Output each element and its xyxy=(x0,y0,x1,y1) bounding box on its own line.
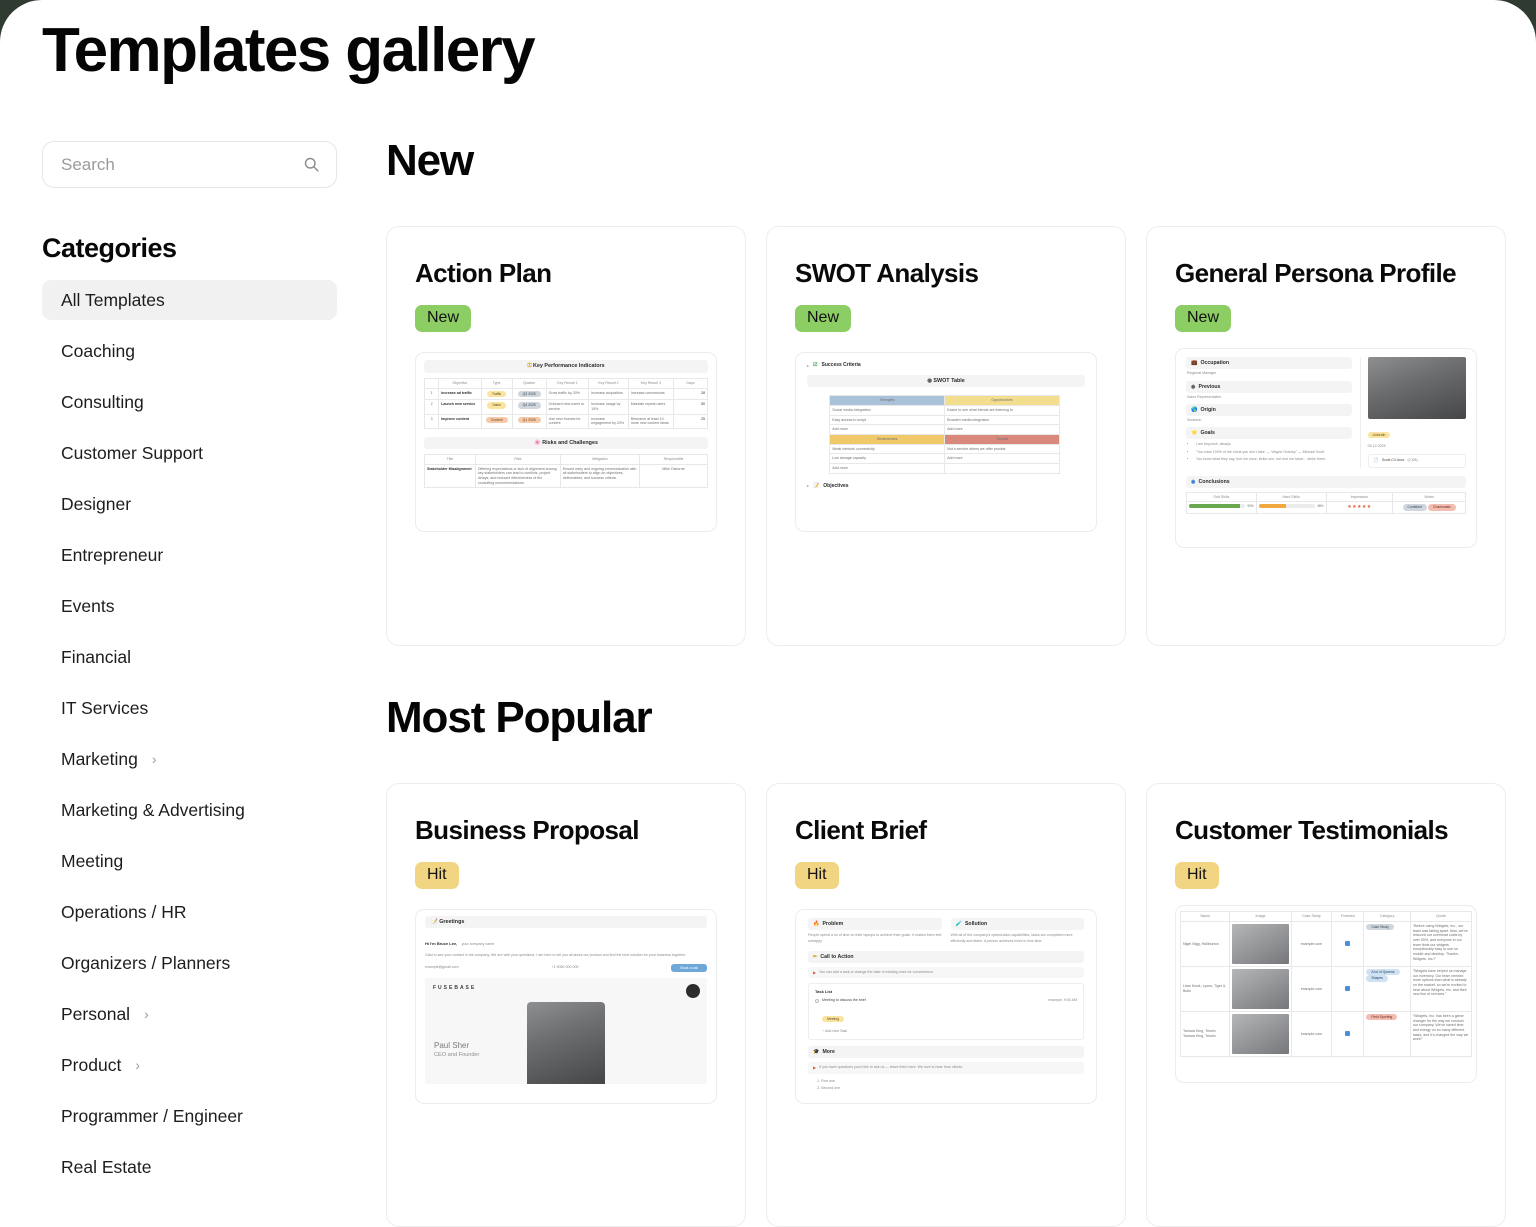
note-tag: Charismatic xyxy=(1428,504,1456,510)
brief-solution-text: With all of the company's optimization c… xyxy=(951,933,1085,944)
chevron-right-icon[interactable]: › xyxy=(135,1058,140,1072)
persona-photo xyxy=(1368,357,1466,419)
sidebar-item-financial[interactable]: Financial xyxy=(42,637,337,677)
status-badge: Hit xyxy=(795,862,839,889)
proposal-email: example@gmail.com xyxy=(425,965,459,970)
status-badge: New xyxy=(1175,305,1231,332)
sidebar-item-label: Personal xyxy=(61,1004,130,1025)
sidebar-item-programmer-engineer[interactable]: Programmer / Engineer xyxy=(42,1096,337,1136)
brief-cta-text: ▶ You can add a task or change the date … xyxy=(808,967,1084,978)
template-preview-persona: 💼Occupation Regional Manager ◉Previous S… xyxy=(1175,348,1477,548)
proposal-person-role: CEO and Founder xyxy=(434,1052,479,1058)
template-title: SWOT Analysis xyxy=(795,257,1097,289)
note-tag: Confident xyxy=(1403,504,1428,510)
proposal-cta-button[interactable]: Book a call xyxy=(671,964,707,972)
sidebar-item-label: Entrepreneur xyxy=(61,545,163,566)
sidebar-item-meeting[interactable]: Meeting xyxy=(42,841,337,881)
template-preview-testimonials: Name Image Case Study Finished Category … xyxy=(1175,905,1477,1083)
avatar xyxy=(1232,1014,1288,1054)
testimonial-case-study: example.com xyxy=(1291,921,1332,966)
sidebar-item-label: Programmer / Engineer xyxy=(61,1106,243,1127)
template-title: Business Proposal xyxy=(415,814,717,846)
persona-previous-value: Sales Representative xyxy=(1187,395,1352,400)
status-badge: Hit xyxy=(415,862,459,889)
brief-problem-text: People spend a lot of time on their lapt… xyxy=(808,933,942,944)
sidebar: Categories All Templates Coaching Consul… xyxy=(42,141,337,1198)
hard-skills-value: 48% xyxy=(1317,504,1323,508)
template-preview-swot: ▸ ☑ Success Criteria ◉ SWOT Table Streng… xyxy=(795,352,1097,532)
sidebar-item-events[interactable]: Events xyxy=(42,586,337,626)
sidebar-item-label: Marketing & Advertising xyxy=(61,800,245,821)
play-icon[interactable] xyxy=(686,984,700,998)
template-card-action-plan[interactable]: Action Plan New ⚿ Key Performance Indica… xyxy=(386,226,746,646)
sidebar-item-label: Designer xyxy=(61,494,131,515)
brief-more-label: 🎓More xyxy=(808,1046,1084,1058)
sidebar-item-label: Organizers / Planners xyxy=(61,953,230,974)
status-badge: New xyxy=(415,305,471,332)
preview-greetings-heading: 📝 Greetings xyxy=(425,916,707,928)
persona-conclusions-label: ◉Conclusions xyxy=(1186,476,1466,488)
persona-origin-label: 🌎Origin xyxy=(1186,404,1352,416)
table-row: Stakeholder Misalignment Differing expec… xyxy=(425,464,708,488)
search-input[interactable] xyxy=(43,142,336,187)
list-item: Second one xyxy=(821,1086,1084,1091)
sidebar-item-label: Real Estate xyxy=(61,1157,151,1178)
brief-task-list: Task List Meeting to discuss the brief e… xyxy=(808,983,1084,1040)
template-card-general-persona-profile[interactable]: General Persona Profile New 💼Occupation … xyxy=(1146,226,1506,646)
template-title: General Persona Profile xyxy=(1175,257,1477,289)
status-badge: New xyxy=(795,305,851,332)
brief-add-task[interactable]: + Add new Task xyxy=(822,1029,1077,1034)
sidebar-item-real-estate[interactable]: Real Estate xyxy=(42,1147,337,1187)
testimonial-name: Nigel Nigg, Halliburton xyxy=(1181,921,1230,966)
template-card-swot-analysis[interactable]: SWOT Analysis New ▸ ☑ Success Criteria ◉… xyxy=(766,226,1126,646)
sidebar-item-label: Events xyxy=(61,596,115,617)
search-box[interactable] xyxy=(42,141,337,188)
preview-risks-heading: 🌸 Risks and Challenges xyxy=(424,437,708,449)
category-list: All Templates Coaching Consulting Custom… xyxy=(42,280,337,1187)
sidebar-item-operations-hr[interactable]: Operations / HR xyxy=(42,892,337,932)
persona-occupation-value: Regional Manager xyxy=(1187,371,1352,376)
proposal-salutation-hint: your company name xyxy=(462,942,495,946)
table-row: 3 Improve content Content Q1 2026 Use ne… xyxy=(425,414,708,428)
template-title: Action Plan xyxy=(415,257,717,289)
brief-solution-label: 🧪Sollution xyxy=(951,918,1085,930)
avatar xyxy=(1232,924,1288,964)
sidebar-item-coaching[interactable]: Coaching xyxy=(42,331,337,371)
list-item: I am beyoncé, always. xyxy=(1196,442,1352,447)
persona-occupation-label: 💼Occupation xyxy=(1186,357,1352,369)
table-row: 2 Launch new service Sales Q4 2025 Onboa… xyxy=(425,400,708,414)
sidebar-item-designer[interactable]: Designer xyxy=(42,484,337,524)
sidebar-item-consulting[interactable]: Consulting xyxy=(42,382,337,422)
sidebar-item-label: All Templates xyxy=(61,290,165,311)
preview-swot-table: Strengths Opportunities Social media int… xyxy=(829,395,1060,473)
sidebar-item-label: Product xyxy=(61,1055,121,1076)
brief-task-tag: Meeting xyxy=(822,1016,844,1022)
swot-quadrant-label: Strengths xyxy=(830,396,945,406)
template-preview-action-plan: ⚿ Key Performance Indicators Objective T… xyxy=(415,352,717,532)
testimonial-quote: "Widgets have helped us manage our inven… xyxy=(1410,966,1471,1011)
testimonial-case-study: example.com xyxy=(1291,966,1332,1011)
brief-task-item: Meeting to discuss the brief xyxy=(822,998,1045,1003)
template-title: Customer Testimonials xyxy=(1175,814,1477,846)
swot-quadrant-label: Threats xyxy=(945,434,1060,444)
brief-problem-label: 🔥Problem xyxy=(808,918,942,930)
sidebar-item-marketing-advertising[interactable]: Marketing & Advertising xyxy=(42,790,337,830)
persona-date: 05.12.2025 xyxy=(1368,444,1466,449)
checkbox-checked-icon[interactable] xyxy=(1345,941,1350,946)
proposal-hero: FUSEBASE Paul Sher CEO and Founder xyxy=(425,978,707,1084)
preview-objectives: ▸ 📝 Objectives xyxy=(807,483,1085,489)
rating-stars: ★★★★★ xyxy=(1347,504,1371,510)
table-row: 1 Increase ad traffic Traffic Q3 2025 Gr… xyxy=(425,388,708,399)
chevron-right-icon[interactable]: › xyxy=(144,1007,149,1021)
main-content: New Action Plan New ⚿ Key Performance In… xyxy=(386,0,1536,1227)
sidebar-item-label: Meeting xyxy=(61,851,123,872)
categories-heading: Categories xyxy=(42,233,337,264)
proposal-phone: +1 9050 000 000 xyxy=(551,965,578,970)
sidebar-item-label: Marketing xyxy=(61,749,138,770)
table-row: 90% 48% ★★★★★ xyxy=(1187,502,1466,514)
task-checkbox[interactable] xyxy=(815,999,819,1003)
testimonials-table: Name Image Case Study Finished Category … xyxy=(1180,911,1472,1057)
section-heading-most-popular: Most Popular xyxy=(386,693,651,743)
swot-quadrant-label: Opportunities xyxy=(945,396,1060,406)
swot-quadrant-label: Weaknesses xyxy=(830,434,945,444)
preview-risks-table: Title Risk Mitigation Responsible Stakeh… xyxy=(424,454,708,488)
template-row-most-popular: Business Proposal Hit 📝 Greetings Hi I'm… xyxy=(386,783,1506,1227)
proposal-person-photo xyxy=(527,1002,605,1084)
persona-goals-label: ⭐Goals xyxy=(1186,427,1352,439)
section-heading-new: New xyxy=(386,136,473,186)
brief-more-text: ▶ If you have questions you'd like to as… xyxy=(808,1062,1084,1073)
persona-linkedin-tag: LinkedIn xyxy=(1368,432,1391,438)
category-tag: Field Sporting xyxy=(1366,1014,1397,1020)
list-item: "You miss 100% of the shots you don't ta… xyxy=(1196,450,1352,455)
proposal-body: Glad to see your contact in the company.… xyxy=(425,953,707,958)
persona-previous-label: ◉Previous xyxy=(1186,381,1352,393)
chevron-right-icon[interactable]: › xyxy=(152,752,157,766)
sidebar-item-label: IT Services xyxy=(61,698,148,719)
persona-origin-value: Scranton xyxy=(1187,418,1352,423)
template-preview-proposal: 📝 Greetings Hi I'm Bruce Lee, your compa… xyxy=(415,909,717,1104)
sidebar-item-label: Coaching xyxy=(61,341,135,362)
preview-success-criteria: ▸ ☑ Success Criteria xyxy=(807,362,1085,368)
sidebar-item-all-templates[interactable]: All Templates xyxy=(42,280,337,320)
preview-kpi-heading: ⚿ Key Performance Indicators xyxy=(424,360,708,373)
sidebar-item-it-services[interactable]: IT Services xyxy=(42,688,337,728)
list-item: You know what they say, fool me once, st… xyxy=(1196,457,1352,462)
checkbox-checked-icon[interactable] xyxy=(1345,1031,1350,1036)
sidebar-item-entrepreneur[interactable]: Entrepreneur xyxy=(42,535,337,575)
sidebar-item-label: Financial xyxy=(61,647,131,668)
preview-swot-heading: ◉ SWOT Table xyxy=(807,375,1085,387)
testimonial-name: Liam Kwok, Lyons, Tiger & Bulls xyxy=(1181,966,1230,1011)
category-tag: Case Study xyxy=(1366,924,1394,930)
testimonial-case-study: example.com xyxy=(1291,1011,1332,1056)
brief-task-list-label: Task List xyxy=(815,989,1077,994)
template-card-client-brief[interactable]: Client Brief Hit 🔥Problem People spend a… xyxy=(766,783,1126,1227)
table-row: Nigel Nigg, Halliburton example.com Case… xyxy=(1181,921,1472,966)
template-row-new: Action Plan New ⚿ Key Performance Indica… xyxy=(386,226,1506,646)
app-window: Templates gallery Categories All Templat… xyxy=(0,0,1536,1227)
category-tag: Shapes xyxy=(1366,975,1388,981)
sidebar-item-personal[interactable]: Personal › xyxy=(42,994,337,1034)
sidebar-item-marketing[interactable]: Marketing › xyxy=(42,739,337,779)
checkbox-checked-icon[interactable] xyxy=(1345,986,1350,991)
list-item: First one xyxy=(821,1079,1084,1084)
avatar xyxy=(1232,969,1288,1009)
template-title: Client Brief xyxy=(795,814,1097,846)
soft-skills-value: 90% xyxy=(1247,504,1253,508)
preview-kpi-table: Objective Type Quarter Key Result 1 Key … xyxy=(424,378,708,429)
proposal-salutation: Hi I'm Bruce Lee, xyxy=(425,941,457,946)
table-row: Liam Kwok, Lyons, Tiger & Bulls example.… xyxy=(1181,966,1472,1011)
template-preview-client-brief: 🔥Problem People spend a lot of time on t… xyxy=(795,909,1097,1104)
brief-task-meta: example, 9:00 AM xyxy=(1048,998,1077,1003)
testimonial-quote: "Before using Widgets, Inc., our team wa… xyxy=(1410,921,1471,966)
template-card-customer-testimonials[interactable]: Customer Testimonials Hit Name Image Cas… xyxy=(1146,783,1506,1227)
sidebar-item-label: Customer Support xyxy=(61,443,203,464)
template-card-business-proposal[interactable]: Business Proposal Hit 📝 Greetings Hi I'm… xyxy=(386,783,746,1227)
persona-conclusions-table: Soft Skills Hard Skills Impression Notes… xyxy=(1186,492,1466,514)
sidebar-item-customer-support[interactable]: Customer Support xyxy=(42,433,337,473)
sidebar-item-product[interactable]: Product › xyxy=(42,1045,337,1085)
proposal-person-name: Paul Sher xyxy=(434,1041,479,1050)
brief-cta-label: ✏Call to Action xyxy=(808,951,1084,963)
sidebar-item-label: Consulting xyxy=(61,392,144,413)
sidebar-item-label: Operations / HR xyxy=(61,902,186,923)
sidebar-item-organizers-planners[interactable]: Organizers / Planners xyxy=(42,943,337,983)
persona-file-attachment[interactable]: 📄 Scott-CV.docx (2 KB) xyxy=(1368,454,1466,468)
brand-logo: FUSEBASE xyxy=(433,985,476,991)
testimonial-quote: "Widgets, Inc. has been a game changer f… xyxy=(1410,1011,1471,1056)
status-badge: Hit xyxy=(1175,862,1219,889)
testimonial-name: Tamara King, Trionix Tamara King, Trioni… xyxy=(1181,1011,1230,1056)
search-icon[interactable] xyxy=(303,156,320,178)
table-row: Tamara King, Trionix Tamara King, Trioni… xyxy=(1181,1011,1472,1056)
